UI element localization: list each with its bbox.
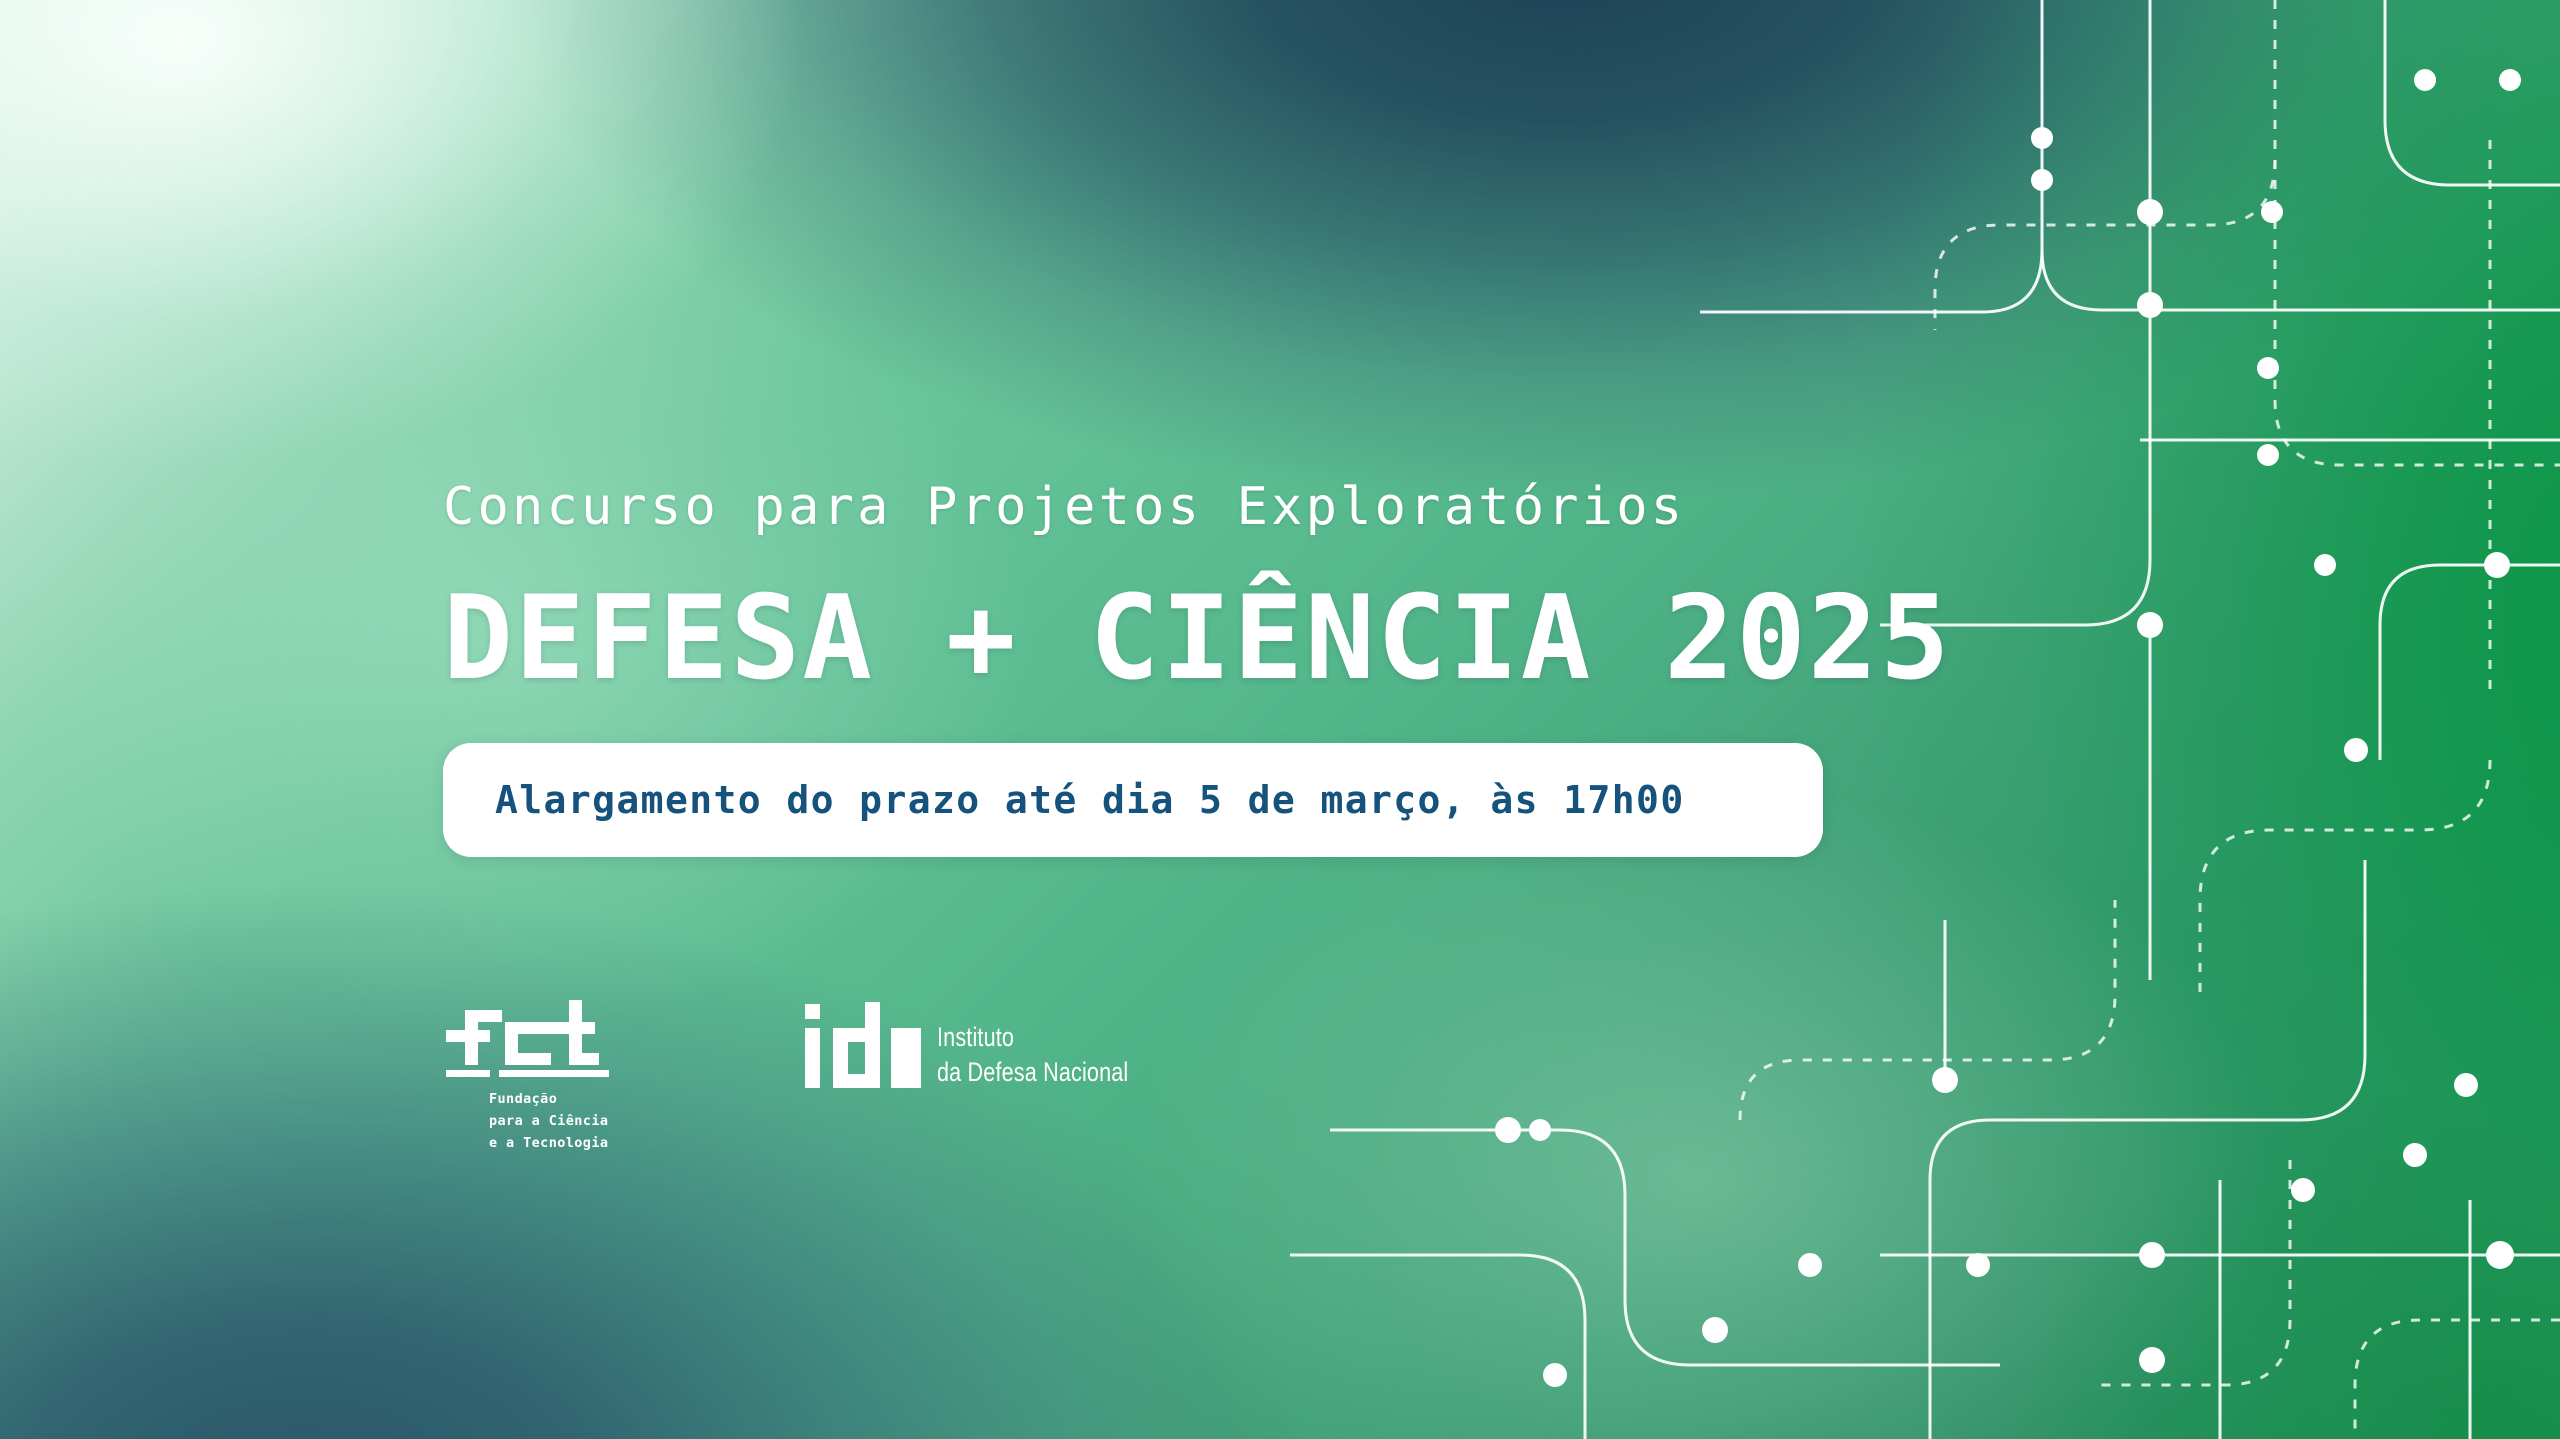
circuit-line-dashed [2355,1320,2560,1439]
circuit-line [1330,1130,2000,1365]
circuit-node-dot [2291,1178,2315,1202]
fct-logo-tagline: Fundação para a Ciência e a Tecnologia [489,1089,673,1155]
circuit-node-dot [2344,738,2368,762]
circuit-line [2380,565,2560,760]
idn-logo-tagline: Instituto da Defesa Nacional [937,1002,1128,1090]
circuit-node-dot [2484,552,2510,578]
headline-block: Concurso para Projetos Exploratórios DEF… [443,480,1943,857]
circuit-line [1290,1255,1585,1439]
circuit-node-dot [2031,169,2053,191]
circuit-node-dot [2137,292,2163,318]
circuit-node-dot [2137,612,2163,638]
circuit-node-dot [1798,1253,1822,1277]
circuit-line-dashed [2200,760,2490,1000]
circuit-line [1700,250,2042,312]
circuit-node-dot [2137,199,2163,225]
circuit-line-dashed [1740,900,2115,1120]
circuit-node-dot [2031,127,2053,149]
circuit-node-dot [2257,357,2279,379]
circuit-node-dot [1702,1317,1728,1343]
circuit-line [1930,860,2365,1180]
circuit-node-dot [1966,1253,1990,1277]
circuit-line-dashed [1935,160,2275,330]
circuit-node-dot [2454,1073,2478,1097]
circuit-node-dot [2414,69,2436,91]
circuit-node-dot [1932,1067,1958,1093]
circuit-line [2042,0,2560,310]
banner-headline: DEFESA + CIÊNCIA 2025 [443,581,1943,697]
logo-row: Fundação para a Ciência e a Tecnologia [443,1000,1176,1155]
circuit-line-dashed [2100,1160,2290,1385]
circuit-node-dot [1543,1363,1567,1387]
circuit-node-dot [2139,1347,2165,1373]
circuit-line-dashed [2275,0,2560,465]
banner-subtitle: Concurso para Projetos Exploratórios [443,480,1943,535]
circuit-node-dot [1495,1117,1521,1143]
promotional-banner: Concurso para Projetos Exploratórios DEF… [0,0,2560,1439]
circuit-node-dot [2139,1242,2165,1268]
circuit-node-dot [1529,1119,1551,1141]
circuit-node-dot [2499,69,2521,91]
circuit-node-dot [2257,444,2279,466]
fct-logo: Fundação para a Ciência e a Tecnologia [443,1000,673,1155]
circuit-line [2385,0,2560,185]
deadline-badge-text: Alargamento do prazo até dia 5 de março,… [495,778,1685,822]
fct-logo-icon [443,1000,618,1078]
circuit-node-dot [2261,201,2283,223]
circuit-node-dot [2314,554,2336,576]
idn-logo-icon [803,1002,921,1088]
circuit-node-dot [2486,1241,2514,1269]
circuit-node-dot [2403,1143,2427,1167]
deadline-badge: Alargamento do prazo até dia 5 de março,… [443,743,1823,857]
idn-logo: Instituto da Defesa Nacional [803,1000,1176,1090]
